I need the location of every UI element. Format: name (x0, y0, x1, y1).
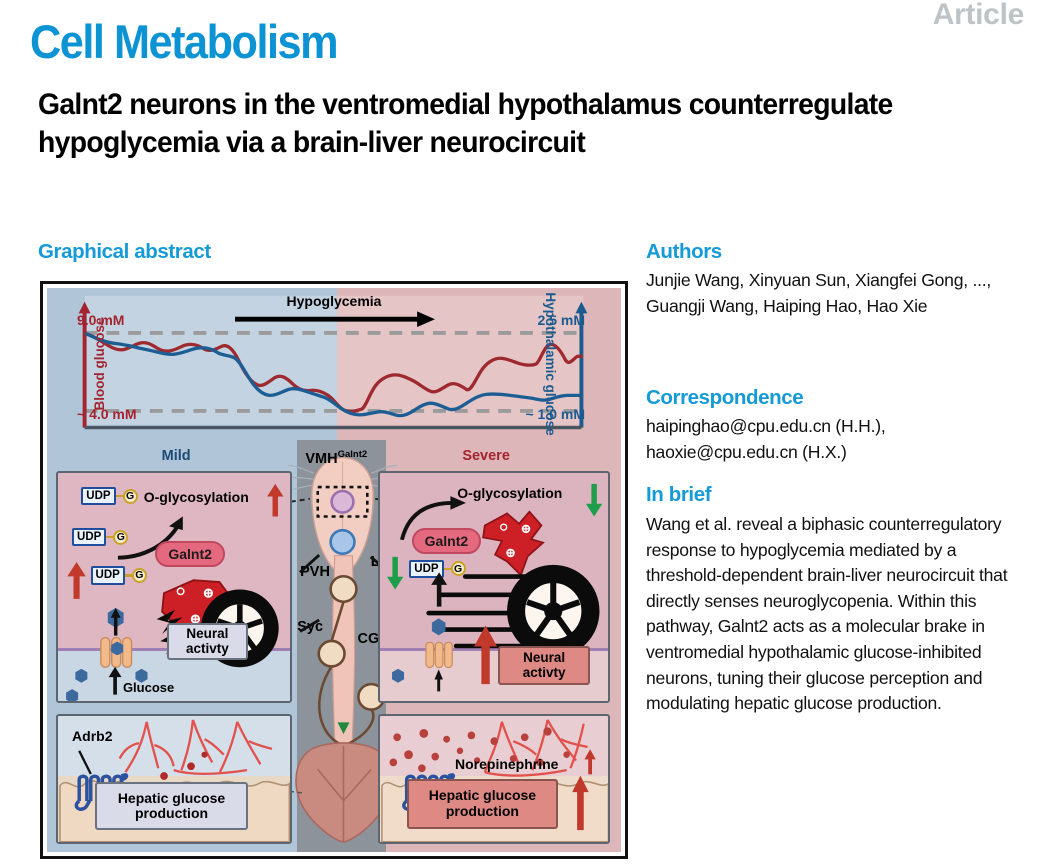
in-brief-text: Wang et al. reveal a biphasic counterreg… (646, 512, 1028, 717)
severe-neuron-panel: O-glycosylation Galnt2 (378, 471, 610, 702)
glucose-timecourse-chart: Hypoglycemia Blood glucose Hypothalamic … (47, 288, 621, 440)
norepinephrine-up-arrow-icon (581, 748, 599, 776)
udp-label: UDP (72, 528, 106, 546)
mild-liver-panel: Adrb2 Hepatic glucose production (56, 714, 291, 844)
glucose-transporter-severe (409, 614, 468, 696)
article-type-label: Article (933, 0, 1024, 32)
vmh-nucleus (332, 491, 354, 513)
o-glycosylation-label-severe: O-glycosylation (457, 485, 562, 501)
correspondence-heading: Correspondence (646, 386, 803, 410)
paper-title: Galnt2 neurons in the ventromedial hypot… (38, 86, 969, 162)
chart-annotation-bottom-right: ~ 1.0 mM (525, 406, 585, 422)
authors-list: Junjie Wang, Xinyuan Sun, Xiangfei Gong,… (646, 268, 1028, 319)
udp-g-linker (116, 495, 123, 498)
condition-label-severe: Severe (462, 448, 510, 464)
chart-title: Hypoglycemia (287, 293, 382, 309)
glycan-g: G (132, 568, 147, 583)
udp-g-chip-1: UDP G (81, 487, 137, 505)
udp-g-linker (125, 574, 132, 577)
neural-activity-up-arrow-icon (473, 623, 498, 687)
o-glycosylation-label: O-glycosylation (144, 489, 249, 505)
glycan-g: G (123, 489, 138, 504)
udp-label: UDP (91, 566, 125, 584)
severe-liver-panel: Norepinephrine Hepatic glucose productio… (378, 714, 610, 844)
norepinephrine-label: Norepinephrine (455, 756, 558, 772)
udp-g-linker (106, 536, 113, 539)
hepatic-glucose-production-box-severe: Hepatic glucose production (407, 779, 558, 829)
chart-left-axis-label: Blood glucose (92, 318, 107, 411)
glucose-flux-arrow-severe (430, 569, 448, 610)
mild-neuron-panel: UDP G UDP G UDP G O-glycosylation (56, 471, 291, 702)
udp-label: UDP (81, 487, 115, 505)
glycan-g: G (451, 561, 466, 576)
udp-decrease-arrow-icon (386, 555, 404, 591)
chart-annotation-top-left: 9.0 mM (77, 312, 124, 328)
syc-leader (300, 620, 319, 631)
neural-activity-box-mild: Neural activty (167, 623, 248, 659)
figure-canvas: Hypoglycemia Blood glucose Hypothalamic … (47, 288, 621, 852)
vmh-label: VMHGalnt2 (305, 449, 367, 467)
udp-g-chip-3: UDP G (91, 566, 147, 584)
graphical-abstract-figure: Hypoglycemia Blood glucose Hypothalamic … (40, 281, 628, 859)
o-glycosylation-down-arrow-icon (585, 482, 603, 518)
galnt2-label-severe: Galnt2 (412, 528, 482, 554)
journal-title: Cell Metabolism (30, 14, 337, 69)
o-glycosylation-up-arrow-icon (266, 482, 285, 518)
graphical-abstract-page: Article Cell Metabolism Galnt2 neurons i… (0, 0, 1042, 864)
pvh-leader (300, 555, 319, 572)
graphical-abstract-heading: Graphical abstract (38, 240, 211, 264)
glucose-label: Glucose (123, 680, 174, 695)
adrb2-label: Adrb2 (72, 728, 112, 744)
capillary-network (120, 720, 272, 774)
neural-activity-box-severe: Neural activty (498, 646, 589, 685)
adrb2-leader-line (79, 751, 91, 774)
udp-increase-arrow-icon (65, 560, 88, 601)
hepatic-glucose-production-box-mild: Hepatic glucose production (95, 782, 248, 830)
in-brief-heading: In brief (646, 483, 711, 507)
correspondence-emails: haipinghao@cpu.edu.cn (H.H.), haoxie@cpu… (646, 414, 1028, 465)
chart-annotation-bottom-left: ~ 4.0 mM (77, 406, 137, 422)
condition-label-mild: Mild (162, 448, 191, 464)
hepatic-output-up-arrow-icon (569, 774, 592, 832)
authors-heading: Authors (646, 240, 722, 264)
glucose-uptake-arrow (107, 666, 123, 696)
chart-annotation-top-right: 2.5 mM (538, 312, 585, 328)
